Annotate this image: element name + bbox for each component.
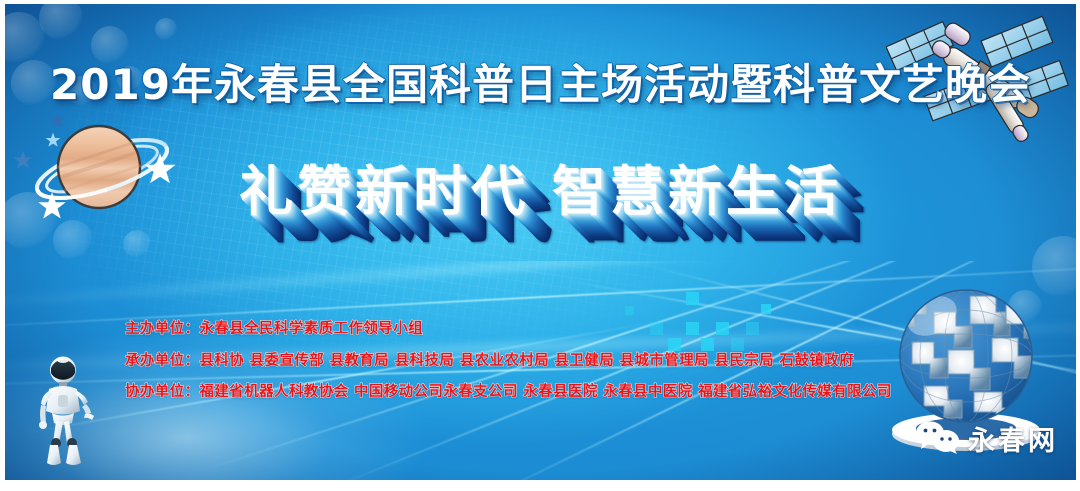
star-icon	[37, 191, 67, 225]
bokeh-circle	[5, 12, 45, 64]
background-vignette	[5, 4, 1076, 480]
bokeh-circle	[53, 220, 93, 260]
pixel-square	[761, 304, 771, 314]
star-icon	[45, 132, 61, 152]
bokeh-circle	[91, 26, 129, 64]
bokeh-circle	[155, 18, 177, 40]
pixel-square	[716, 322, 729, 335]
light-streaks	[5, 261, 1076, 480]
bokeh-circle	[1008, 290, 1042, 324]
bokeh-circle	[67, 76, 97, 106]
pixel-square	[686, 322, 699, 335]
pixel-square	[668, 338, 681, 351]
bokeh-circle	[5, 192, 57, 250]
organizer-block: 主办单位：永春县全民科学素质工作领导小组 承办单位：县科协 县委宣传部 县教育局…	[125, 322, 892, 400]
watermark: 永春网	[915, 419, 1058, 458]
humanoid-robot-icon	[23, 353, 103, 478]
saturn-planet-icon	[27, 109, 177, 229]
banner-root: 2019年永春县全国科普日主场活动暨科普文艺晚会 礼赞新时代 智慧新生活 主办单…	[0, 0, 1080, 491]
bokeh-circle	[123, 230, 151, 258]
background-mesh-pattern	[69, 14, 840, 385]
pixel-square	[625, 306, 634, 315]
organizer-line-coorganizer: 协办单位：福建省机器人科教协会 中国移动公司永春支公司 永春县医院 永春县中医院…	[125, 385, 892, 400]
bokeh-circle	[11, 60, 57, 106]
watermark-text: 永春网	[968, 419, 1058, 458]
pixel-square	[746, 322, 759, 335]
pixel-square	[650, 322, 663, 335]
pixel-square	[701, 338, 714, 351]
poster-canvas: 2019年永春县全国科普日主场活动暨科普文艺晚会 礼赞新时代 智慧新生活 主办单…	[5, 4, 1076, 480]
pixel-square	[731, 338, 744, 351]
organizer-line-host: 主办单位：永春县全民科学素质工作领导小组	[125, 322, 892, 337]
slogan: 礼赞新时代 智慧新生活	[239, 164, 842, 221]
background-glow	[5, 328, 433, 480]
slogan-wrapper: 礼赞新时代 智慧新生活	[5, 164, 1076, 221]
pixel-square	[686, 292, 699, 305]
puzzle-globe-icon	[874, 282, 1064, 462]
organizer-line-undertaker: 承办单位：县科协 县委宣传部 县教育局 县科技局 县农业农村局 县卫健局 县城市…	[125, 354, 892, 369]
star-icon	[143, 152, 177, 190]
bokeh-circle	[1032, 236, 1076, 298]
bokeh-circle	[117, 66, 143, 92]
page-title: 2019年永春县全国科普日主场活动暨科普文艺晚会	[5, 64, 1076, 106]
star-icon	[13, 150, 33, 174]
space-station-icon	[886, 4, 1074, 152]
bokeh-circle	[39, 4, 83, 40]
wechat-icon	[915, 420, 961, 458]
star-icon	[49, 112, 66, 133]
